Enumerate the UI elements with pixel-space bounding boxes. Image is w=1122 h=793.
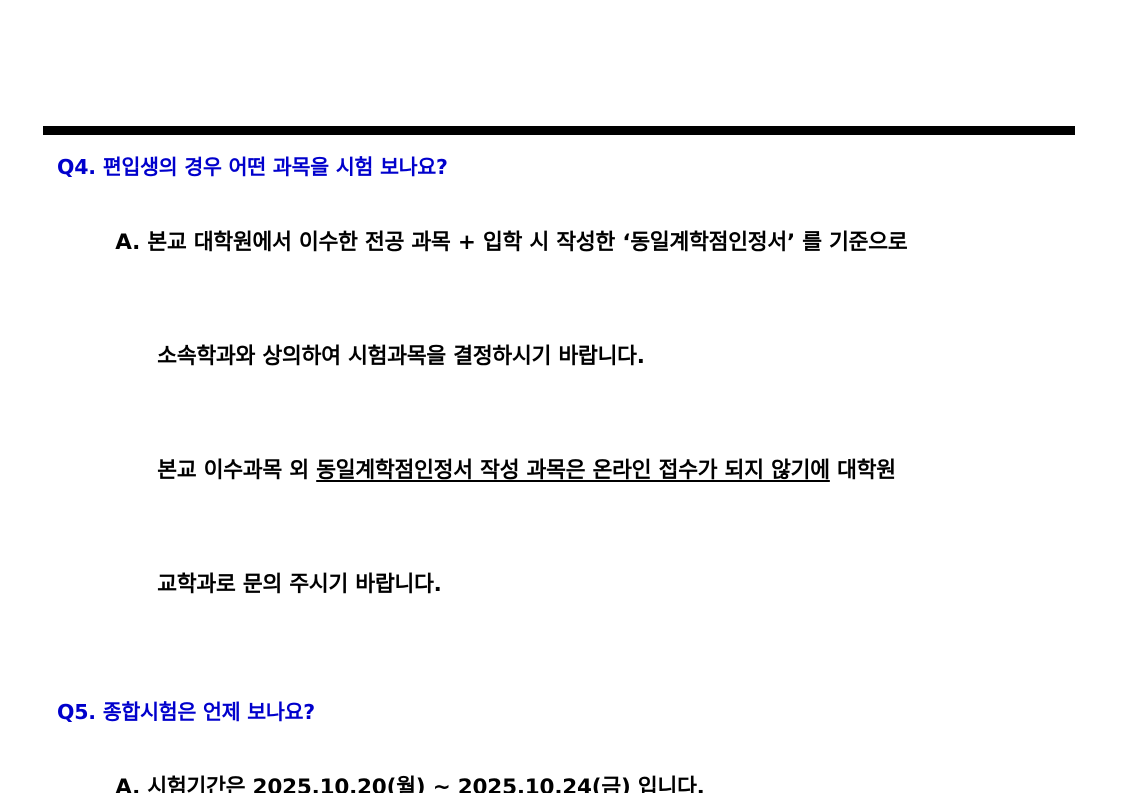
answer-line-q4-4: 교학과로 문의 주시기 바랍니다. [57, 528, 1087, 642]
answer-segment: A. 본교 대학원에서 이수한 전공 과목 + 입학 시 작성한 ‘동일계학점인… [115, 230, 907, 255]
question-text-q4: Q4. 편입생의 경우 어떤 과목을 시험 보나요? [57, 148, 1087, 186]
answer-line-q4-1: A. 본교 대학원에서 이수한 전공 과목 + 입학 시 작성한 ‘동일계학점인… [57, 186, 1087, 300]
faq-item-q5: Q5. 종합시험은 언제 보나요? A. 시험기간은 2025.10.20(월)… [57, 693, 1087, 793]
answer-segment: 교학과로 문의 주시기 바랍니다. [157, 572, 441, 597]
answer-line-q5-1: A. 시험기간은 2025.10.20(월) ~ 2025.10.24(금) 입… [57, 731, 1087, 793]
slide-canvas: Q4. 편입생의 경우 어떤 과목을 시험 보나요? A. 본교 대학원에서 이… [0, 0, 1122, 793]
answer-line-q4-3: 본교 이수과목 외 동일계학점인정서 작성 과목은 온라인 접수가 되지 않기에… [57, 414, 1087, 528]
header-divider-rule [43, 126, 1075, 135]
answer-segment: A. 시험기간은 2025.10.20(월) ~ 2025.10.24(금) 입… [115, 775, 704, 793]
faq-content: Q4. 편입생의 경우 어떤 과목을 시험 보나요? A. 본교 대학원에서 이… [57, 148, 1087, 793]
answer-segment: 대학원 [830, 458, 896, 483]
answer-segment-underlined: 동일계학점인정서 작성 과목은 온라인 접수가 되지 않기에 [316, 458, 830, 483]
answer-segment: 소속학과와 상의하여 시험과목을 결정하시기 바랍니다. [157, 344, 644, 369]
answer-segment: 본교 이수과목 외 [157, 458, 316, 483]
faq-item-q4: Q4. 편입생의 경우 어떤 과목을 시험 보나요? A. 본교 대학원에서 이… [57, 148, 1087, 642]
question-text-q5: Q5. 종합시험은 언제 보나요? [57, 693, 1087, 731]
answer-line-q4-2: 소속학과와 상의하여 시험과목을 결정하시기 바랍니다. [57, 300, 1087, 414]
